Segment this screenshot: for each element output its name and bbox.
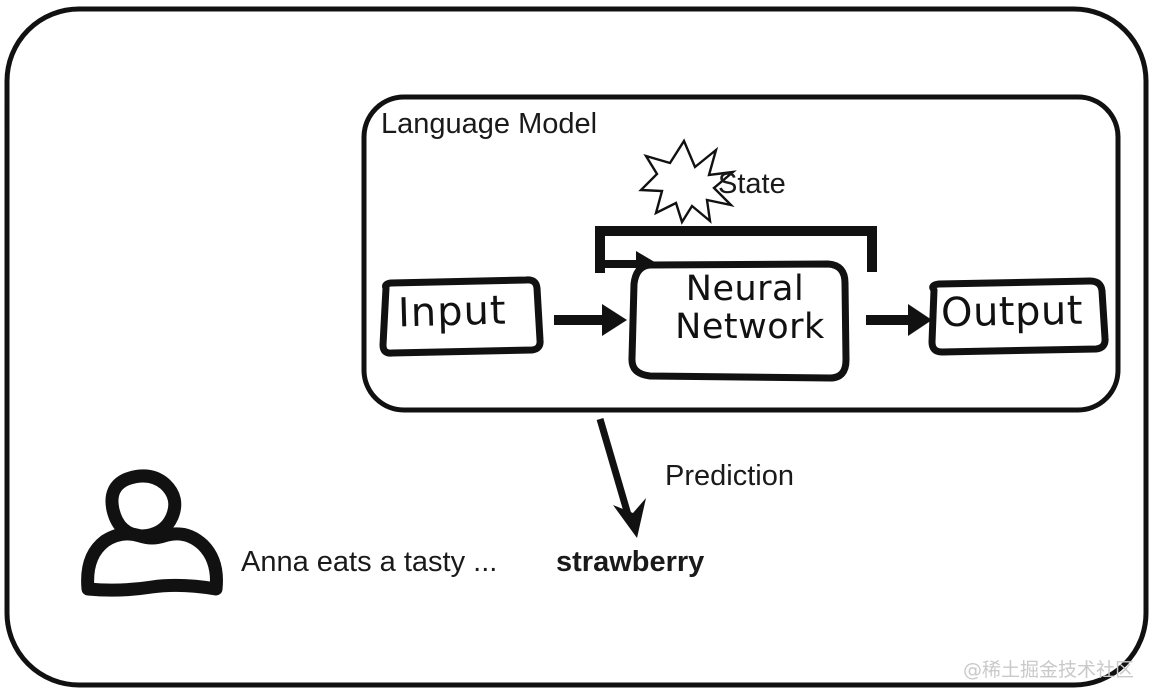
neural-network-label-line2: Network [670, 310, 830, 346]
diagram-vector-layer [0, 0, 1154, 692]
person-icon [88, 476, 217, 590]
neural-network-label: Neural Network [660, 272, 830, 345]
watermark: @稀土掘金技术社区 [963, 655, 1134, 682]
diagram-canvas: Language Model State Prediction Input Ne… [0, 0, 1154, 692]
neural-network-label-line1: Neural [686, 269, 804, 309]
input-box-label: Input [397, 290, 507, 334]
state-label: State [718, 170, 786, 199]
predicted-word-text: strawberry [556, 548, 704, 577]
language-model-title: Language Model [381, 110, 597, 139]
prediction-label: Prediction [665, 462, 794, 491]
arrow-right-icon-nn-to-output [866, 304, 932, 336]
input-sentence-text: Anna eats a tasty ... [241, 548, 497, 577]
arrow-right-icon-input-to-nn [554, 304, 627, 336]
arrow-down-right-icon-prediction [600, 419, 646, 538]
output-box-label: Output [941, 291, 1084, 334]
